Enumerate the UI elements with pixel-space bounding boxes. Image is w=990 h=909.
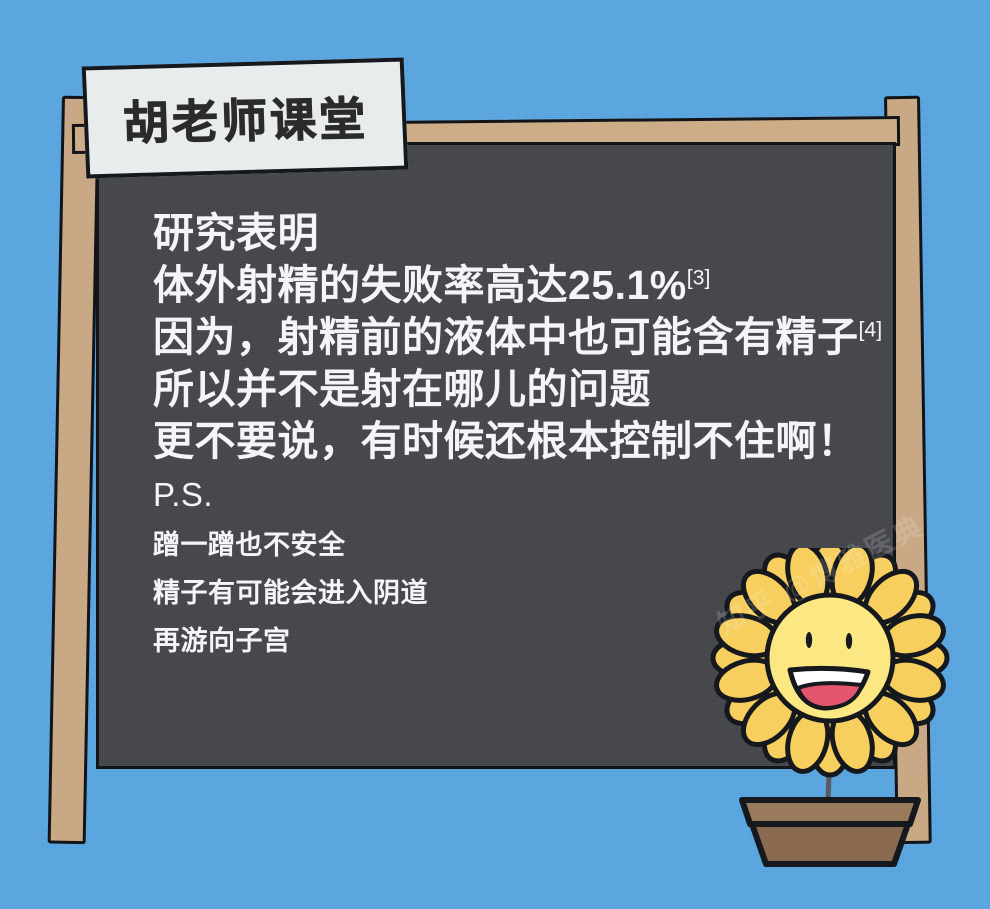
illustration-canvas: 研究表明 体外射精的失败率高达25.1%[3] 因为，射精前的液体中也可能含有精… bbox=[0, 0, 990, 909]
sunflower-eye-right bbox=[846, 633, 852, 649]
sunflower-eye-left bbox=[806, 632, 812, 648]
line-2-text: 体外射精的失败率高达25.1% bbox=[153, 262, 687, 308]
blackboard-line-3: 因为，射精前的液体中也可能含有精子[4] bbox=[153, 311, 875, 363]
blackboard-line-5: 更不要说，有时候还根本控制不住啊！ bbox=[153, 415, 875, 467]
line-5-text: 更不要说，有时候还根本控制不住啊！ bbox=[153, 418, 859, 464]
line-2-citation: [3] bbox=[687, 265, 711, 289]
sunflower-mascot bbox=[706, 548, 956, 868]
line-4-text: 所以并不是射在哪儿的问题 bbox=[153, 366, 651, 412]
line-3-text: 因为，射精前的液体中也可能含有精子 bbox=[153, 314, 859, 360]
flower-pot bbox=[742, 800, 918, 864]
ps-heading: P.S. bbox=[153, 469, 875, 521]
line-1-text: 研究表明 bbox=[153, 210, 319, 256]
easel-post-left bbox=[48, 96, 100, 845]
title-sign: 胡老师课堂 bbox=[82, 58, 409, 179]
blackboard-line-4: 所以并不是射在哪儿的问题 bbox=[153, 363, 875, 415]
page-title: 胡老师课堂 bbox=[121, 83, 368, 153]
blackboard-line-1: 研究表明 bbox=[153, 207, 875, 259]
blackboard-line-2: 体外射精的失败率高达25.1%[3] bbox=[153, 259, 875, 311]
line-3-citation: [4] bbox=[859, 317, 883, 341]
